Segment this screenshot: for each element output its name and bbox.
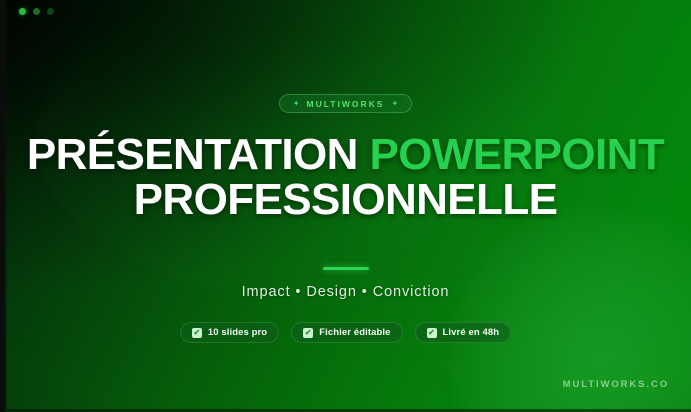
feature-badge-editable[interactable]: ✔ Fichier éditable bbox=[291, 322, 402, 343]
brand-badge-label: MULTIWORKS bbox=[307, 99, 385, 109]
check-icon: ✔ bbox=[427, 328, 437, 338]
headline-word-powerpoint: POWERPOINT bbox=[369, 130, 664, 179]
hero-tagline: Impact • Design • Conviction bbox=[242, 284, 450, 300]
feature-badge-label: Fichier éditable bbox=[319, 327, 390, 338]
window-dot-close-icon[interactable] bbox=[19, 8, 26, 15]
sparkle-right-icon: ✦ bbox=[391, 100, 398, 108]
feature-badge-label: Livré en 48h bbox=[443, 327, 500, 338]
headline-word-presentation: PRÉSENTATION bbox=[27, 130, 370, 179]
headline-line-2: PROFESSIONNELLE bbox=[27, 177, 664, 222]
headline-line-1: PRÉSENTATION POWERPOINT bbox=[27, 132, 664, 177]
footer-watermark: MULTIWORKS.CO bbox=[563, 379, 669, 390]
feature-badge-label: 10 slides pro bbox=[208, 327, 267, 338]
hero-banner: ✦ MULTIWORKS ✦ PRÉSENTATION POWERPOINT P… bbox=[0, 0, 691, 412]
window-controls bbox=[19, 8, 54, 15]
hero-headline: PRÉSENTATION POWERPOINT PROFESSIONNELLE bbox=[27, 132, 664, 223]
check-icon: ✔ bbox=[303, 328, 313, 338]
check-icon: ✔ bbox=[192, 328, 202, 338]
brand-badge[interactable]: ✦ MULTIWORKS ✦ bbox=[279, 94, 412, 113]
headline-divider bbox=[323, 267, 369, 270]
hero-content: ✦ MULTIWORKS ✦ PRÉSENTATION POWERPOINT P… bbox=[0, 0, 691, 412]
feature-badge-slides[interactable]: ✔ 10 slides pro bbox=[180, 322, 279, 343]
window-dot-maximize-icon[interactable] bbox=[47, 8, 54, 15]
feature-badge-row: ✔ 10 slides pro ✔ Fichier éditable ✔ Liv… bbox=[180, 322, 511, 343]
window-dot-minimize-icon[interactable] bbox=[33, 8, 40, 15]
sparkle-left-icon: ✦ bbox=[293, 100, 300, 108]
feature-badge-delivery[interactable]: ✔ Livré en 48h bbox=[415, 322, 512, 343]
